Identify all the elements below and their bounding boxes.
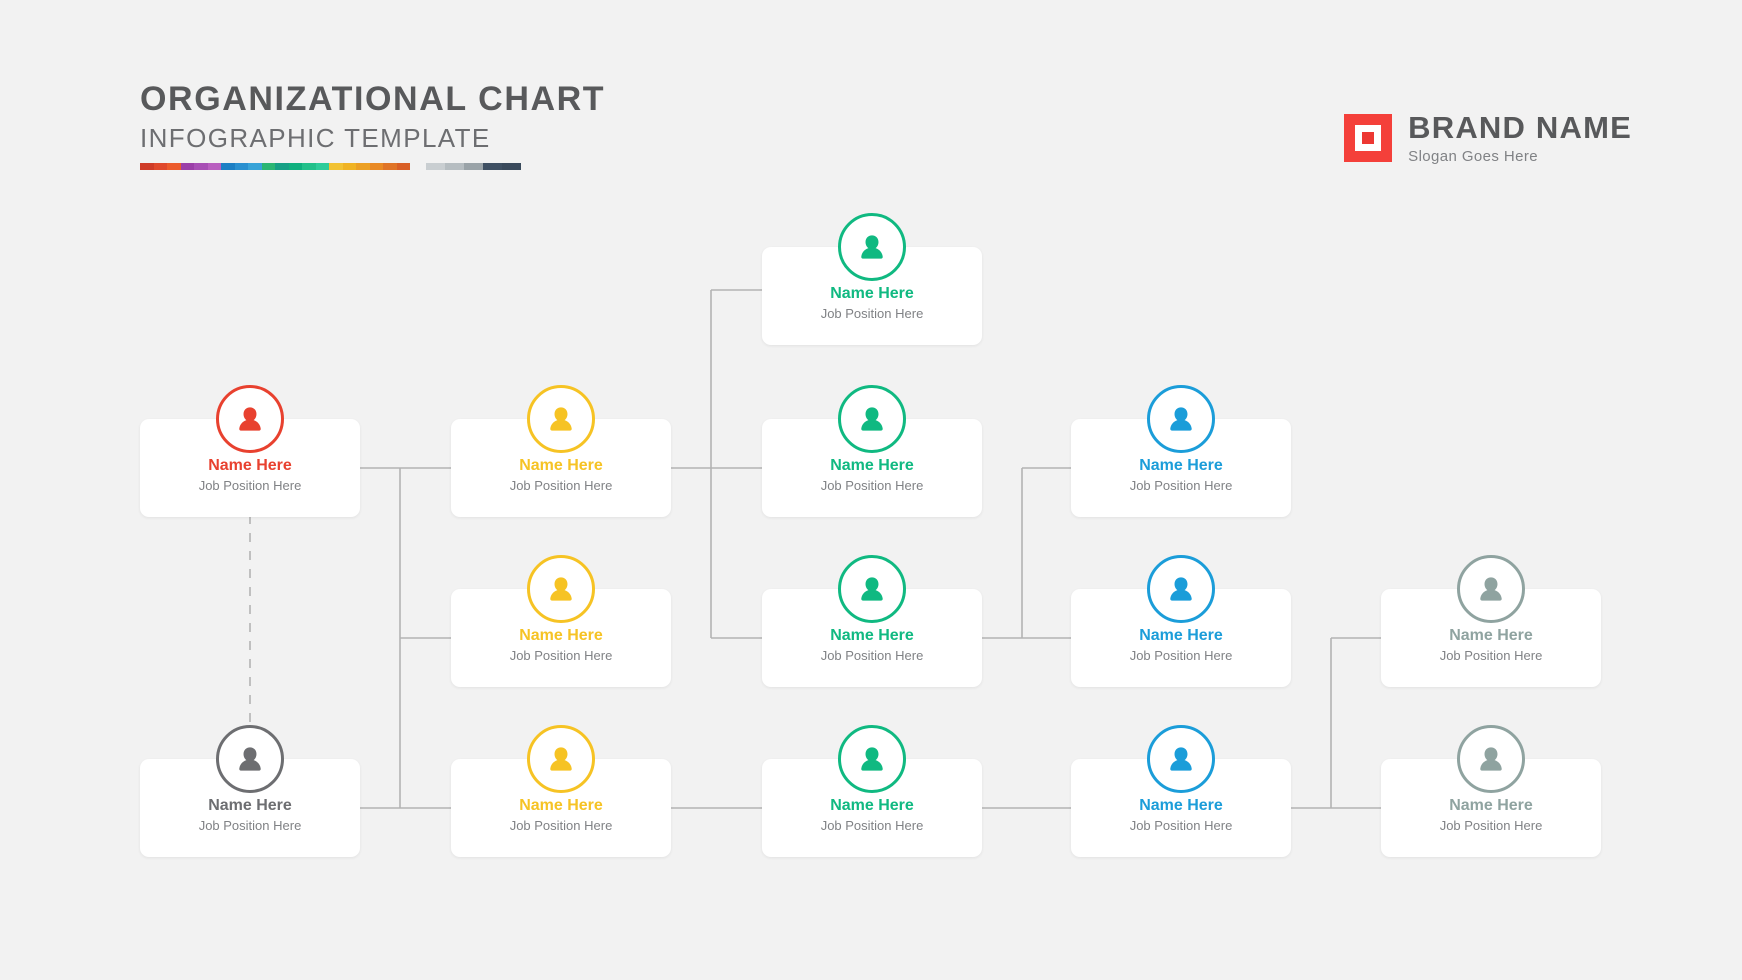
accent-bar-segment	[426, 163, 445, 170]
node-labels: Name HereJob Position Here	[1381, 795, 1601, 835]
avatar	[1457, 725, 1525, 793]
rainbow-accent-bar	[140, 163, 410, 170]
person-icon	[544, 402, 578, 436]
brand-name: BRAND NAME	[1408, 112, 1632, 145]
avatar	[1147, 725, 1215, 793]
node-labels: Name HereJob Position Here	[1071, 455, 1291, 495]
node-job-title: Job Position Here	[1071, 817, 1291, 836]
node-job-title: Job Position Here	[1381, 647, 1601, 666]
person-icon	[855, 402, 889, 436]
accent-bar-segment	[167, 163, 181, 170]
avatar	[216, 385, 284, 453]
avatar	[838, 725, 906, 793]
node-name: Name Here	[762, 795, 982, 817]
person-icon	[544, 572, 578, 606]
node-name: Name Here	[762, 455, 982, 477]
brand-slogan: Slogan Goes Here	[1408, 148, 1632, 165]
avatar	[527, 725, 595, 793]
page-subtitle: INFOGRAPHIC TEMPLATE	[140, 122, 605, 155]
logo-inner-square	[1355, 125, 1381, 151]
avatar	[1147, 555, 1215, 623]
accent-bar-segment	[343, 163, 357, 170]
node-labels: Name HereJob Position Here	[451, 625, 671, 665]
accent-bar-segment	[208, 163, 222, 170]
node-labels: Name HereJob Position Here	[1381, 625, 1601, 665]
node-labels: Name HereJob Position Here	[762, 795, 982, 835]
node-labels: Name HereJob Position Here	[140, 795, 360, 835]
avatar	[216, 725, 284, 793]
accent-bar-segment	[370, 163, 384, 170]
node-name: Name Here	[1381, 795, 1601, 817]
person-icon	[1474, 572, 1508, 606]
accent-bar-segment	[397, 163, 411, 170]
person-icon	[1474, 742, 1508, 776]
accent-bar-segment	[275, 163, 289, 170]
accent-bars	[140, 163, 521, 170]
node-job-title: Job Position Here	[451, 817, 671, 836]
grey-accent-bar	[426, 163, 521, 170]
accent-bar-segment	[289, 163, 303, 170]
accent-bar-segment	[248, 163, 262, 170]
node-name: Name Here	[451, 625, 671, 647]
node-job-title: Job Position Here	[140, 817, 360, 836]
accent-bar-segment	[464, 163, 483, 170]
accent-bar-segment	[329, 163, 343, 170]
logo-core-square	[1362, 132, 1374, 144]
avatar	[838, 385, 906, 453]
node-name: Name Here	[762, 625, 982, 647]
node-job-title: Job Position Here	[762, 817, 982, 836]
node-name: Name Here	[451, 795, 671, 817]
person-icon	[855, 230, 889, 264]
node-name: Name Here	[140, 795, 360, 817]
person-icon	[233, 402, 267, 436]
brand-text: BRAND NAME Slogan Goes Here	[1408, 112, 1632, 165]
node-labels: Name HereJob Position Here	[451, 795, 671, 835]
avatar	[527, 555, 595, 623]
node-name: Name Here	[1381, 625, 1601, 647]
node-labels: Name HereJob Position Here	[140, 455, 360, 495]
avatar	[838, 555, 906, 623]
node-labels: Name HereJob Position Here	[451, 455, 671, 495]
node-labels: Name HereJob Position Here	[762, 455, 982, 495]
person-icon	[855, 572, 889, 606]
node-labels: Name HereJob Position Here	[1071, 795, 1291, 835]
node-name: Name Here	[1071, 795, 1291, 817]
accent-bar-segment	[356, 163, 370, 170]
node-labels: Name HereJob Position Here	[1071, 625, 1291, 665]
node-labels: Name HereJob Position Here	[762, 625, 982, 665]
node-name: Name Here	[1071, 455, 1291, 477]
avatar	[1147, 385, 1215, 453]
brand-lockup: BRAND NAME Slogan Goes Here	[1344, 112, 1632, 165]
accent-bar-segment	[316, 163, 330, 170]
node-job-title: Job Position Here	[762, 477, 982, 496]
person-icon	[1164, 742, 1198, 776]
node-job-title: Job Position Here	[1071, 477, 1291, 496]
person-icon	[855, 742, 889, 776]
accent-bar-segment	[483, 163, 502, 170]
accent-bar-segment	[302, 163, 316, 170]
node-job-title: Job Position Here	[762, 647, 982, 666]
accent-bar-segment	[194, 163, 208, 170]
node-labels: Name HereJob Position Here	[762, 283, 982, 323]
accent-bar-segment	[221, 163, 235, 170]
header-block: ORGANIZATIONAL CHART INFOGRAPHIC TEMPLAT…	[140, 80, 605, 155]
accent-bar-segment	[445, 163, 464, 170]
node-name: Name Here	[762, 283, 982, 305]
org-chart-canvas: ORGANIZATIONAL CHART INFOGRAPHIC TEMPLAT…	[0, 0, 1742, 980]
accent-bar-segment	[262, 163, 276, 170]
node-job-title: Job Position Here	[1071, 647, 1291, 666]
accent-bar-segment	[502, 163, 521, 170]
node-job-title: Job Position Here	[451, 477, 671, 496]
person-icon	[1164, 402, 1198, 436]
node-name: Name Here	[140, 455, 360, 477]
person-icon	[1164, 572, 1198, 606]
avatar	[1457, 555, 1525, 623]
accent-bar-segment	[140, 163, 154, 170]
page-title: ORGANIZATIONAL CHART	[140, 80, 605, 118]
node-name: Name Here	[1071, 625, 1291, 647]
accent-bar-segment	[154, 163, 168, 170]
avatar	[838, 213, 906, 281]
avatar	[527, 385, 595, 453]
person-icon	[544, 742, 578, 776]
node-job-title: Job Position Here	[762, 305, 982, 324]
accent-bar-segment	[383, 163, 397, 170]
node-job-title: Job Position Here	[140, 477, 360, 496]
brand-square-logo	[1344, 114, 1392, 162]
node-job-title: Job Position Here	[451, 647, 671, 666]
node-name: Name Here	[451, 455, 671, 477]
node-job-title: Job Position Here	[1381, 817, 1601, 836]
person-icon	[233, 742, 267, 776]
accent-bar-segment	[181, 163, 195, 170]
accent-bar-segment	[235, 163, 249, 170]
